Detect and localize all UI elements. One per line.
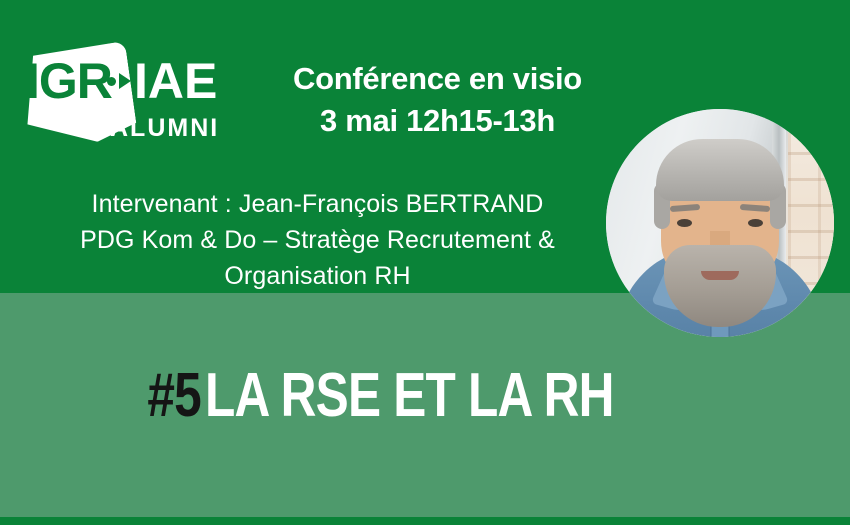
session-title-text: LA RSE ET LA RH	[205, 360, 614, 432]
speaker-portrait-photo	[606, 109, 834, 337]
speaker-line-2: PDG Kom & Do – Stratège Recrutement &	[60, 222, 575, 258]
portrait-mouth	[701, 271, 739, 280]
speaker-line-3: Organisation RH	[60, 258, 575, 294]
speaker-line-1: Intervenant : Jean-François BERTRAND	[60, 186, 575, 222]
portrait-hair	[656, 139, 784, 201]
portrait-eye-left	[677, 219, 692, 227]
session-title: #5LA RSE ET LA RH	[0, 360, 850, 432]
logo-arrow-right-icon	[106, 67, 136, 97]
event-headline: Conférence en visio 3 mai 12h15-13h	[200, 58, 675, 142]
speaker-details: Intervenant : Jean-François BERTRAND PDG…	[60, 186, 575, 294]
logo-text-igr: IGR	[26, 56, 112, 106]
logo-wordmark: IGR IAE	[22, 56, 212, 112]
portrait-eye-right	[748, 219, 763, 227]
conference-banner: IGR IAE ALUMNI Conférence en visio 3 mai…	[0, 0, 850, 525]
logo-triangle-icon	[119, 73, 131, 89]
headline-line-2: 3 mai 12h15-13h	[200, 100, 675, 142]
headline-line-1: Conférence en visio	[200, 58, 675, 100]
igr-iae-alumni-logo: IGR IAE ALUMNI	[22, 42, 212, 150]
logo-dot-icon	[107, 77, 116, 86]
session-number: #5	[147, 360, 201, 432]
background-band-footer-strip	[0, 517, 850, 525]
